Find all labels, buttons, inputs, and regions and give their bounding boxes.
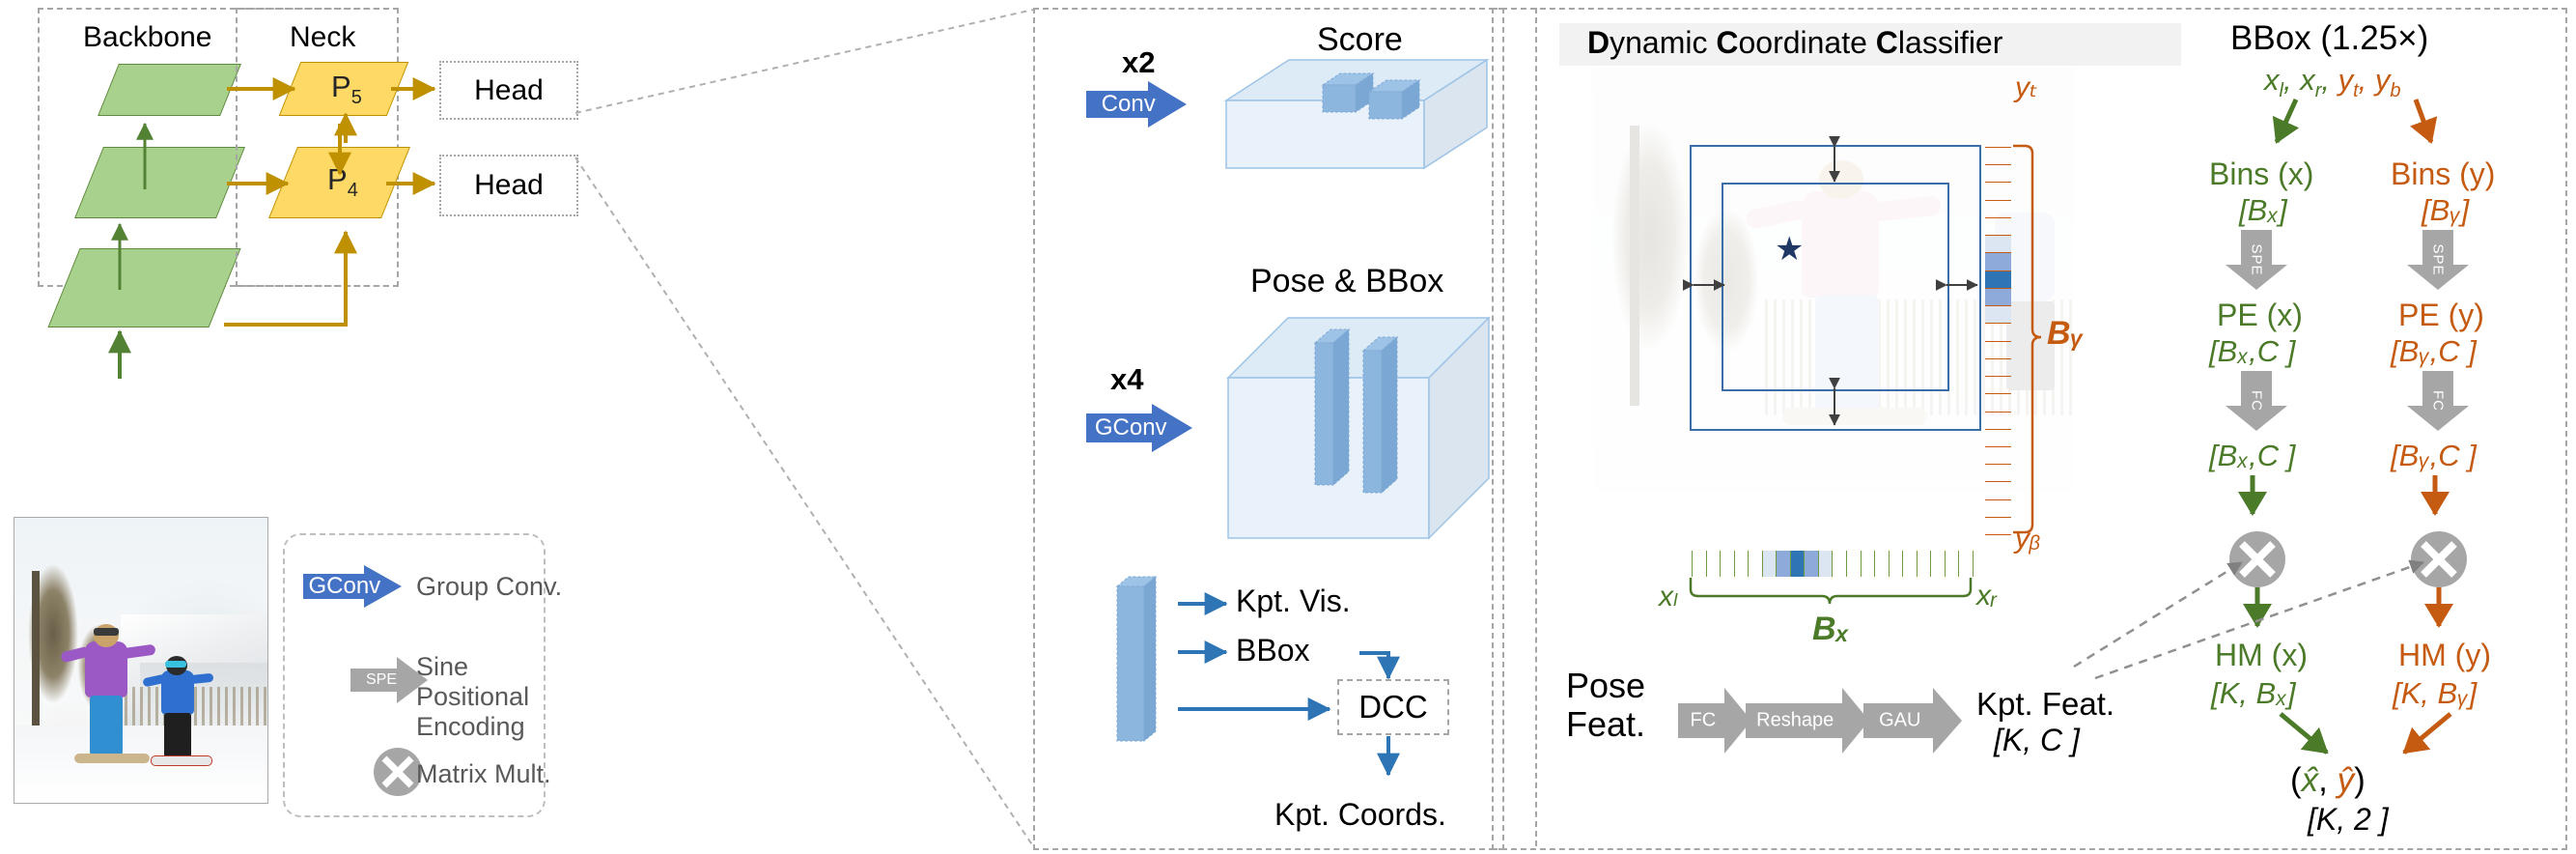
bins-y-strip [1985, 147, 2011, 535]
y-top-label: yₜ [2015, 71, 2038, 104]
result-x: x̂ [2302, 761, 2319, 799]
conv-block-arrow-icon: Conv [1086, 81, 1187, 128]
fc-x-out-shape: [Bₓ,C ] [2209, 439, 2295, 473]
bins-x-node: Bins (x) [2209, 157, 2313, 192]
pe-y-shape: [Bᵧ,C ] [2391, 334, 2477, 369]
gau-stage-label: GAU [1851, 710, 1949, 732]
x-right-label: xᵣ [1976, 580, 1997, 612]
blue-block-arrow-icon: GConv [303, 565, 402, 608]
spe-x-label: SPE [2249, 243, 2265, 275]
kpt-feat-dashed-links [2066, 541, 2472, 696]
dcc-box[interactable]: DCC [1337, 679, 1449, 735]
result-converge-arrows [2221, 710, 2510, 787]
legend-gconv-tag: GConv [295, 573, 394, 600]
bins-x-strip [1692, 551, 1974, 577]
bbox-flow-title: BBox (1.25×) [2230, 19, 2428, 58]
bins-x-label: Bₓ [1812, 611, 1849, 648]
result-coords: (x̂, ŷ) [2290, 761, 2366, 800]
kpt-vis-label: Kpt. Vis. [1236, 584, 1351, 619]
y-bottom-label: yᵦ [2015, 523, 2041, 555]
kpt-feat-shape: [K, C ] [1994, 723, 2080, 758]
dcc-inner-divider [1535, 8, 1537, 846]
pose-bbox-multiplier: x4 [1110, 362, 1143, 397]
legend-label-matmul: Matrix Mult. [416, 759, 551, 789]
pe-x-shape: [Bₓ,C ] [2209, 334, 2295, 369]
score-multiplier: x2 [1122, 45, 1155, 80]
keypoint-star-marker: ★ [1775, 233, 1804, 266]
bins-y-node: Bins (y) [2391, 157, 2495, 192]
reshape-stage-label: Reshape [1733, 710, 1857, 732]
legend-spe-tag: SPE [343, 671, 420, 689]
score-feature-slab [1226, 60, 1487, 181]
fc-y-label: FC [2430, 390, 2447, 412]
x-to-matmul-arrow [2201, 475, 2337, 533]
bins-x-shape: [Bₓ] [2239, 193, 2287, 228]
score-title: Score [1317, 21, 1403, 59]
dcc-title: Dynamic Coordinate Classifier [1587, 25, 2002, 61]
bbox-label: BBox [1236, 633, 1309, 669]
bins-y-brace [2011, 140, 2050, 546]
fc-y-out-shape: [Bᵧ,C ] [2391, 439, 2477, 473]
bins-y-label: Bᵧ [2047, 315, 2084, 353]
bins-y-shape: [Bᵧ] [2422, 193, 2469, 228]
x-left-label: xₗ [1659, 580, 1678, 613]
y-to-matmul-arrow [2385, 475, 2520, 533]
spe-y-label: SPE [2430, 243, 2447, 275]
pose-feat-label: Pose Feat. [1566, 667, 1672, 745]
pe-y-node: PE (y) [2398, 298, 2484, 333]
fc-x-label: FC [2249, 390, 2265, 412]
pose-bbox-feature-cube [1228, 314, 1489, 551]
kpt-coords-label: Kpt. Coords. [1274, 797, 1446, 833]
result-y: ŷ [2338, 761, 2355, 799]
legend-label-spe: Sine Positional Encoding [416, 652, 580, 742]
fc-y-arrow: FC [2407, 371, 2469, 431]
fc-x-arrow: FC [2226, 371, 2287, 431]
pose-bbox-title: Pose & BBox [1250, 263, 1443, 300]
result-shape: [K, 2 ] [2308, 802, 2389, 838]
gconv-tag: GConv [1078, 414, 1184, 441]
pose-feat-text: Pose Feat. [1566, 667, 1672, 745]
fc-stage-label: FC [1666, 710, 1740, 732]
legend-label-gconv: Group Conv. [416, 572, 562, 602]
pe-x-node: PE (x) [2217, 298, 2303, 333]
conv-tag: Conv [1078, 91, 1179, 118]
bbox-dimension-arrows [1680, 135, 1999, 444]
spe-x-arrow: SPE [2226, 230, 2287, 290]
gau-stage-arrow: GAU [1863, 688, 1962, 754]
bins-x-brace [1685, 576, 1984, 611]
bbox-split-arrows [2182, 92, 2568, 159]
spe-y-arrow: SPE [2407, 230, 2469, 290]
gconv-block-arrow-icon: GConv [1086, 404, 1192, 452]
